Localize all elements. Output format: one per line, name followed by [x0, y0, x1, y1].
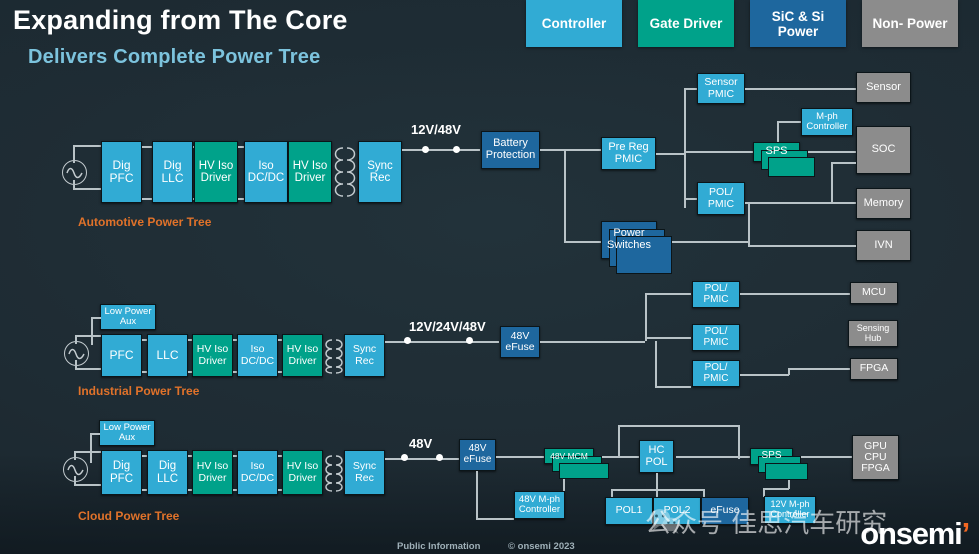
block-48v-mph-controller[interactable]: 48V M-ph Controller [514, 491, 565, 519]
onsemi-logo: onsemi’ [860, 516, 969, 552]
block-sensor[interactable]: Sensor [856, 72, 911, 103]
block-sensing-hub[interactable]: Sensing Hub [848, 320, 898, 347]
block-pol-pmic-3-industrial[interactable]: POL/ PMIC [692, 360, 740, 387]
block-iso-dcdc-industrial[interactable]: Iso DC/DC [237, 334, 278, 377]
block-pfc-industrial[interactable]: PFC [101, 334, 142, 377]
rail-label-industrial: 12V/24V/48V [409, 319, 486, 334]
block-48v-mcm[interactable]: 48V MCM [544, 448, 594, 464]
block-pre-reg-pmic[interactable]: Pre Reg PMIC [601, 137, 656, 170]
block-pol-pmic-automotive[interactable]: POL/ PMIC [697, 182, 745, 215]
row-label-industrial: Industrial Power Tree [78, 384, 199, 398]
block-fpga-industrial[interactable]: FPGA [850, 358, 898, 380]
footer-copyright: © onsemi 2023 [508, 541, 575, 552]
block-48v-mcm-stack[interactable]: 48V MCM [544, 448, 594, 464]
block-hv-iso-driver-2-cloud[interactable]: HV Iso Driver [282, 450, 323, 495]
block-llc-industrial[interactable]: LLC [147, 334, 188, 377]
block-hv-iso-driver-1-cloud[interactable]: HV Iso Driver [192, 450, 233, 495]
page-subtitle: Delivers Complete Power Tree [28, 46, 320, 69]
block-48v-efuse-industrial[interactable]: 48V eFuse [500, 326, 540, 358]
block-memory[interactable]: Memory [856, 188, 911, 219]
row-label-cloud: Cloud Power Tree [78, 509, 179, 523]
block-power-switches-stack[interactable]: Power Switches [601, 221, 657, 259]
transformer-primary-industrial [322, 337, 334, 380]
block-sync-rec-industrial[interactable]: Sync Rec [344, 334, 385, 377]
block-48v-efuse-cloud[interactable]: 48V eFuse [459, 439, 496, 471]
block-low-power-aux-cloud[interactable]: Low Power Aux [99, 420, 155, 446]
block-dig-llc-automotive[interactable]: Dig LLC [152, 141, 193, 203]
block-low-power-aux-industrial[interactable]: Low Power Aux [100, 304, 156, 330]
block-pol1[interactable]: POL1 [605, 497, 653, 525]
block-soc[interactable]: SOC [856, 126, 911, 174]
onsemi-logo-text: onsemi [860, 516, 961, 551]
rail-dot-c2 [436, 454, 443, 461]
block-ivn[interactable]: IVN [856, 230, 911, 261]
legend-gate-driver[interactable]: Gate Driver [638, 0, 734, 47]
block-mcu[interactable]: MCU [850, 282, 898, 304]
block-dig-llc-cloud[interactable]: Dig LLC [147, 450, 188, 495]
block-dig-pfc-cloud[interactable]: Dig PFC [101, 450, 142, 495]
transformer-primary-cloud [322, 453, 334, 498]
block-sps-automotive[interactable]: SPS [753, 142, 800, 162]
block-hc-pol[interactable]: HC POL [639, 440, 674, 473]
block-battery-protection[interactable]: Battery Protection [481, 131, 540, 169]
page-title: Expanding from The Core [13, 5, 348, 36]
block-sps-cloud[interactable]: SPS [750, 448, 793, 465]
rail-dot-a1 [422, 146, 429, 153]
block-gpu-cpu-fpga[interactable]: GPU CPU FPGA [852, 435, 899, 480]
block-mph-controller-automotive[interactable]: M-ph Controller [801, 108, 853, 136]
block-hv-iso-driver-2-industrial[interactable]: HV Iso Driver [282, 334, 323, 377]
block-sync-rec-automotive[interactable]: Sync Rec [358, 141, 402, 203]
legend-sic-si-power[interactable]: SiC & Si Power [750, 0, 846, 47]
block-sensor-pmic[interactable]: Sensor PMIC [697, 73, 745, 104]
block-sps-stack-cloud[interactable]: SPS [750, 448, 793, 465]
legend-non-power[interactable]: Non- Power [862, 0, 958, 47]
row-label-automotive: Automotive Power Tree [78, 215, 211, 229]
block-iso-dcdc-cloud[interactable]: Iso DC/DC [237, 450, 278, 495]
footer-public-information: Public Information [397, 541, 480, 552]
slide-canvas: Expanding from The Core Delivers Complet… [0, 0, 979, 554]
rail-dot-i2 [466, 337, 473, 344]
block-sync-rec-cloud[interactable]: Sync Rec [344, 450, 385, 495]
onsemi-logo-tick: ’ [962, 516, 969, 551]
block-hv-iso-driver-1-industrial[interactable]: HV Iso Driver [192, 334, 233, 377]
block-pol2[interactable]: POL2 [653, 497, 701, 525]
rail-dot-i1 [404, 337, 411, 344]
block-iso-dcdc-automotive[interactable]: Iso DC/DC [244, 141, 288, 203]
transformer-secondary-automotive [345, 145, 359, 205]
legend-controller[interactable]: Controller [526, 0, 622, 47]
block-sps-stack-automotive[interactable]: SPS [753, 142, 800, 162]
block-power-switches[interactable]: Power Switches [601, 221, 657, 259]
transformer-primary-automotive [331, 145, 345, 205]
block-pol-pmic-2-industrial[interactable]: POL/ PMIC [692, 324, 740, 351]
block-dig-pfc-automotive[interactable]: Dig PFC [101, 141, 142, 203]
block-pol-pmic-1-industrial[interactable]: POL/ PMIC [692, 281, 740, 308]
block-hv-iso-driver-1-automotive[interactable]: HV Iso Driver [194, 141, 238, 203]
rail-dot-a2 [453, 146, 460, 153]
block-efuse-cloud[interactable]: eFuse [701, 497, 749, 525]
rail-dot-c1 [401, 454, 408, 461]
rail-label-automotive: 12V/48V [411, 122, 461, 137]
block-hv-iso-driver-2-automotive[interactable]: HV Iso Driver [288, 141, 332, 203]
rail-label-cloud: 48V [409, 436, 432, 451]
block-12v-mph-controller[interactable]: 12V M-ph Controller [764, 496, 816, 524]
